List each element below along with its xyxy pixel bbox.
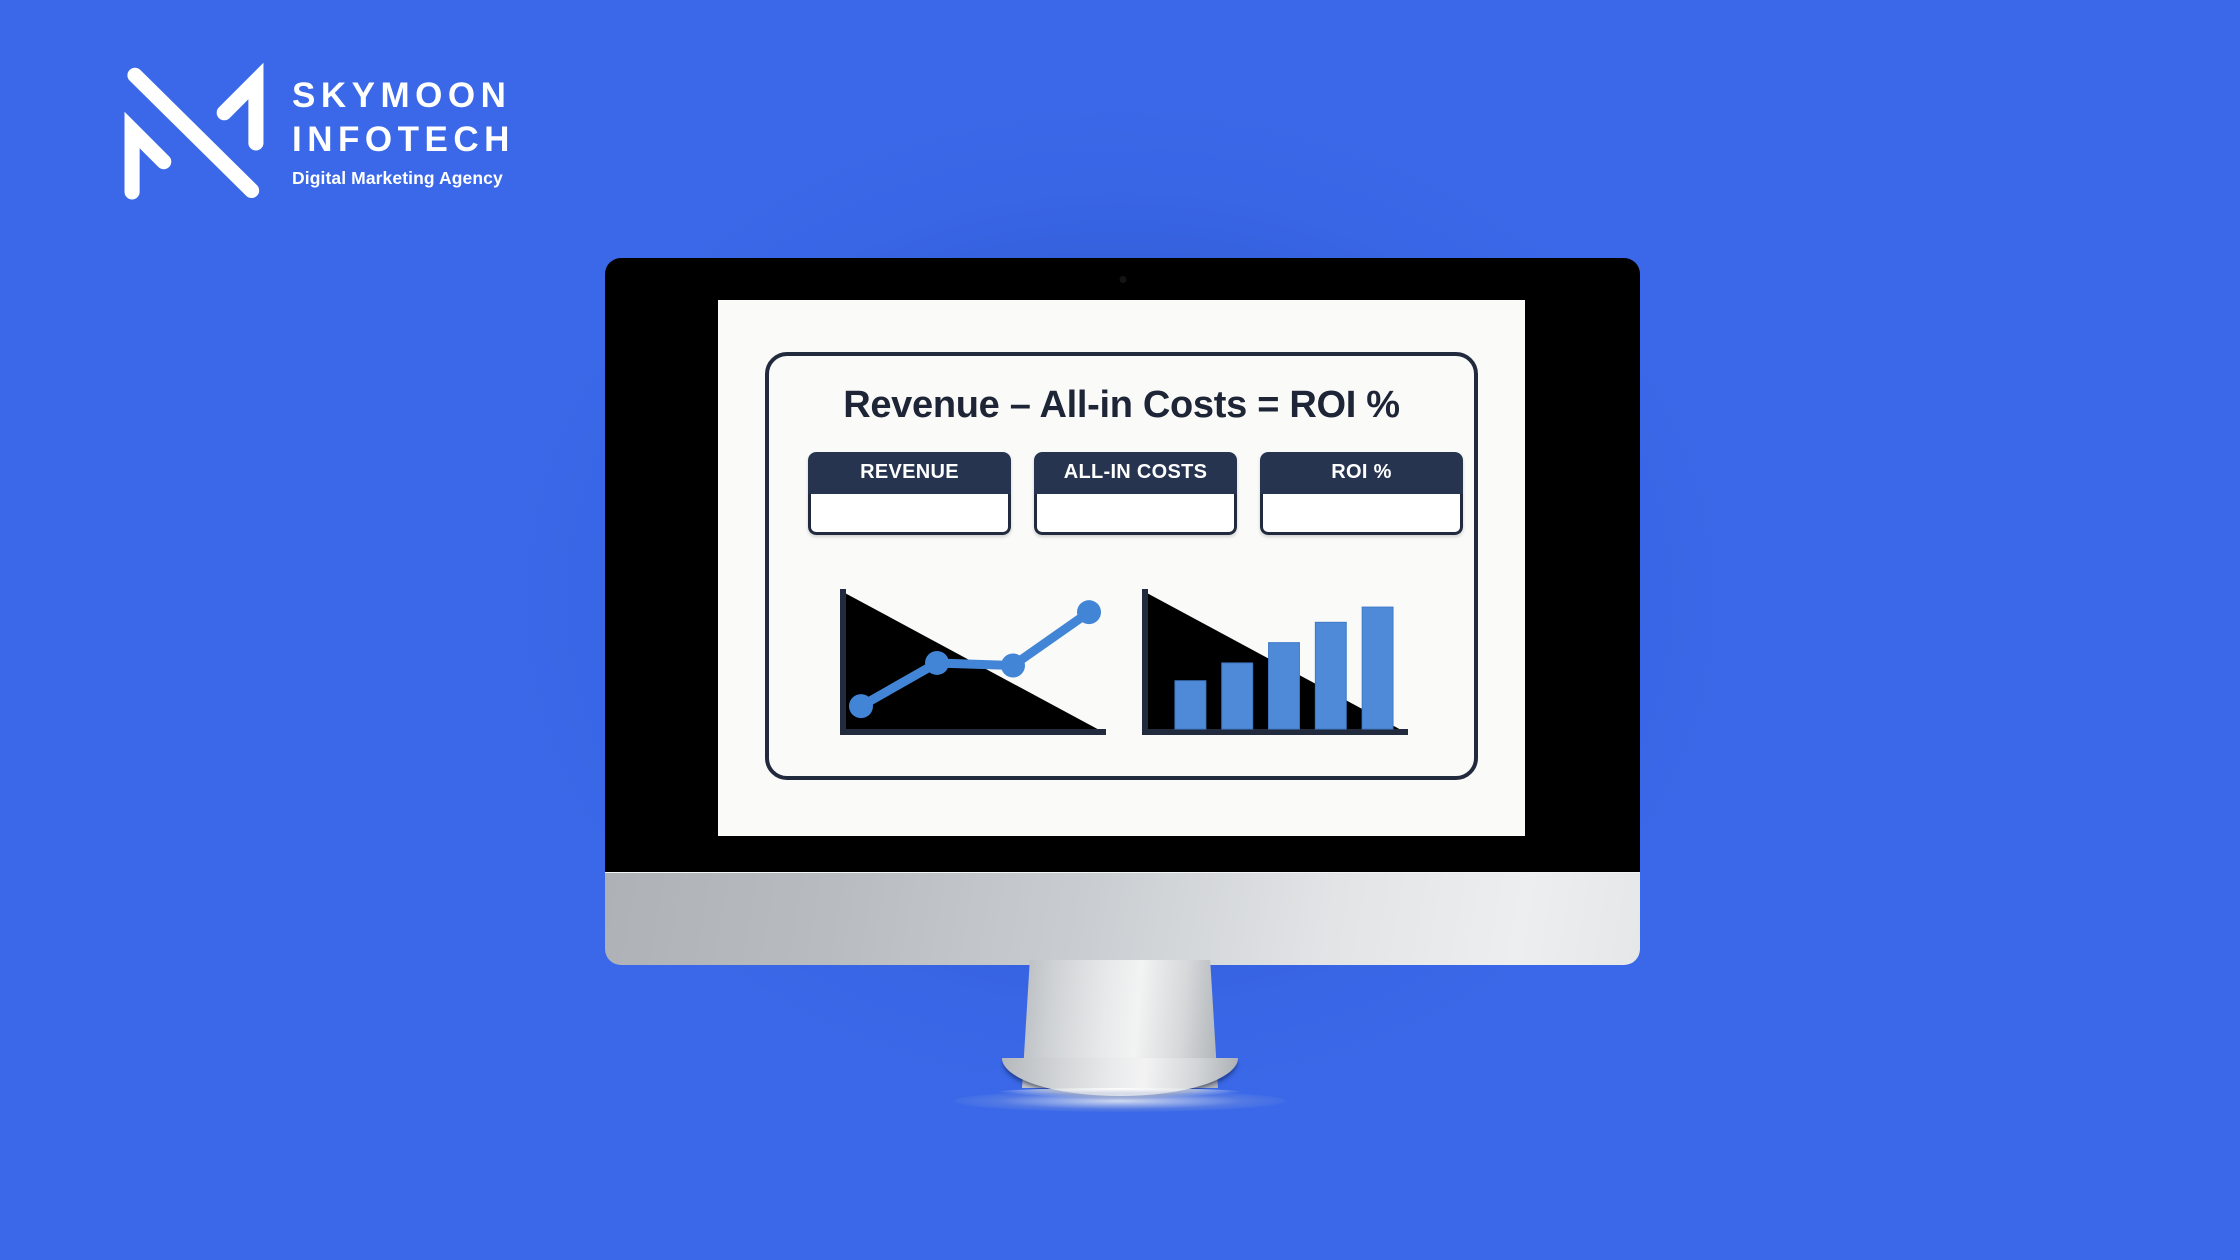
brand-name-line-1: SKYMOON (292, 75, 515, 116)
kpi-card-row: REVENUE ALL-IN COSTS ROI % (808, 452, 1463, 535)
panel-title: Revenue – All-in Costs = ROI % (769, 384, 1474, 427)
kpi-card-value[interactable] (1034, 494, 1237, 535)
bar-chart-bar (1362, 607, 1393, 729)
bar-chart (1133, 586, 1413, 746)
kpi-card-label: ROI % (1260, 452, 1463, 494)
kpi-card-label: REVENUE (808, 452, 1011, 494)
skymoon-m-mark-icon (122, 58, 266, 202)
kpi-card-label: ALL-IN COSTS (1034, 452, 1237, 494)
brand-text-block: SKYMOON INFOTECH Digital Marketing Agenc… (292, 71, 515, 189)
charts-row (769, 586, 1474, 746)
brand-name-line-2: INFOTECH (292, 119, 515, 160)
poster-canvas: SKYMOON INFOTECH Digital Marketing Agenc… (0, 0, 2240, 1260)
line-chart-point (1077, 600, 1101, 624)
line-chart-point (849, 694, 873, 718)
kpi-card-revenue[interactable]: REVENUE (808, 452, 1011, 535)
bar-chart-bar (1221, 663, 1252, 729)
kpi-card-roi-percent[interactable]: ROI % (1260, 452, 1463, 535)
monitor-chin (605, 872, 1640, 965)
brand-tagline: Digital Marketing Agency (292, 168, 515, 189)
line-chart-svg (831, 586, 1111, 746)
bar-chart-bar (1315, 622, 1346, 729)
line-chart-point (925, 651, 949, 675)
kpi-card-all-in-costs[interactable]: ALL-IN COSTS (1034, 452, 1237, 535)
bar-chart-bar (1174, 681, 1205, 729)
line-chart-point (1001, 654, 1025, 678)
bar-chart-svg (1133, 586, 1413, 746)
line-chart (831, 586, 1111, 746)
webcam-dot-icon (1119, 276, 1126, 283)
kpi-card-value[interactable] (808, 494, 1011, 535)
monitor-stand-shadow (955, 1090, 1285, 1112)
bar-chart-bar (1268, 643, 1299, 729)
brand-lockup: SKYMOON INFOTECH Digital Marketing Agenc… (122, 58, 515, 202)
roi-dashboard-panel: Revenue – All-in Costs = ROI % REVENUE A… (765, 352, 1478, 780)
kpi-card-value[interactable] (1260, 494, 1463, 535)
